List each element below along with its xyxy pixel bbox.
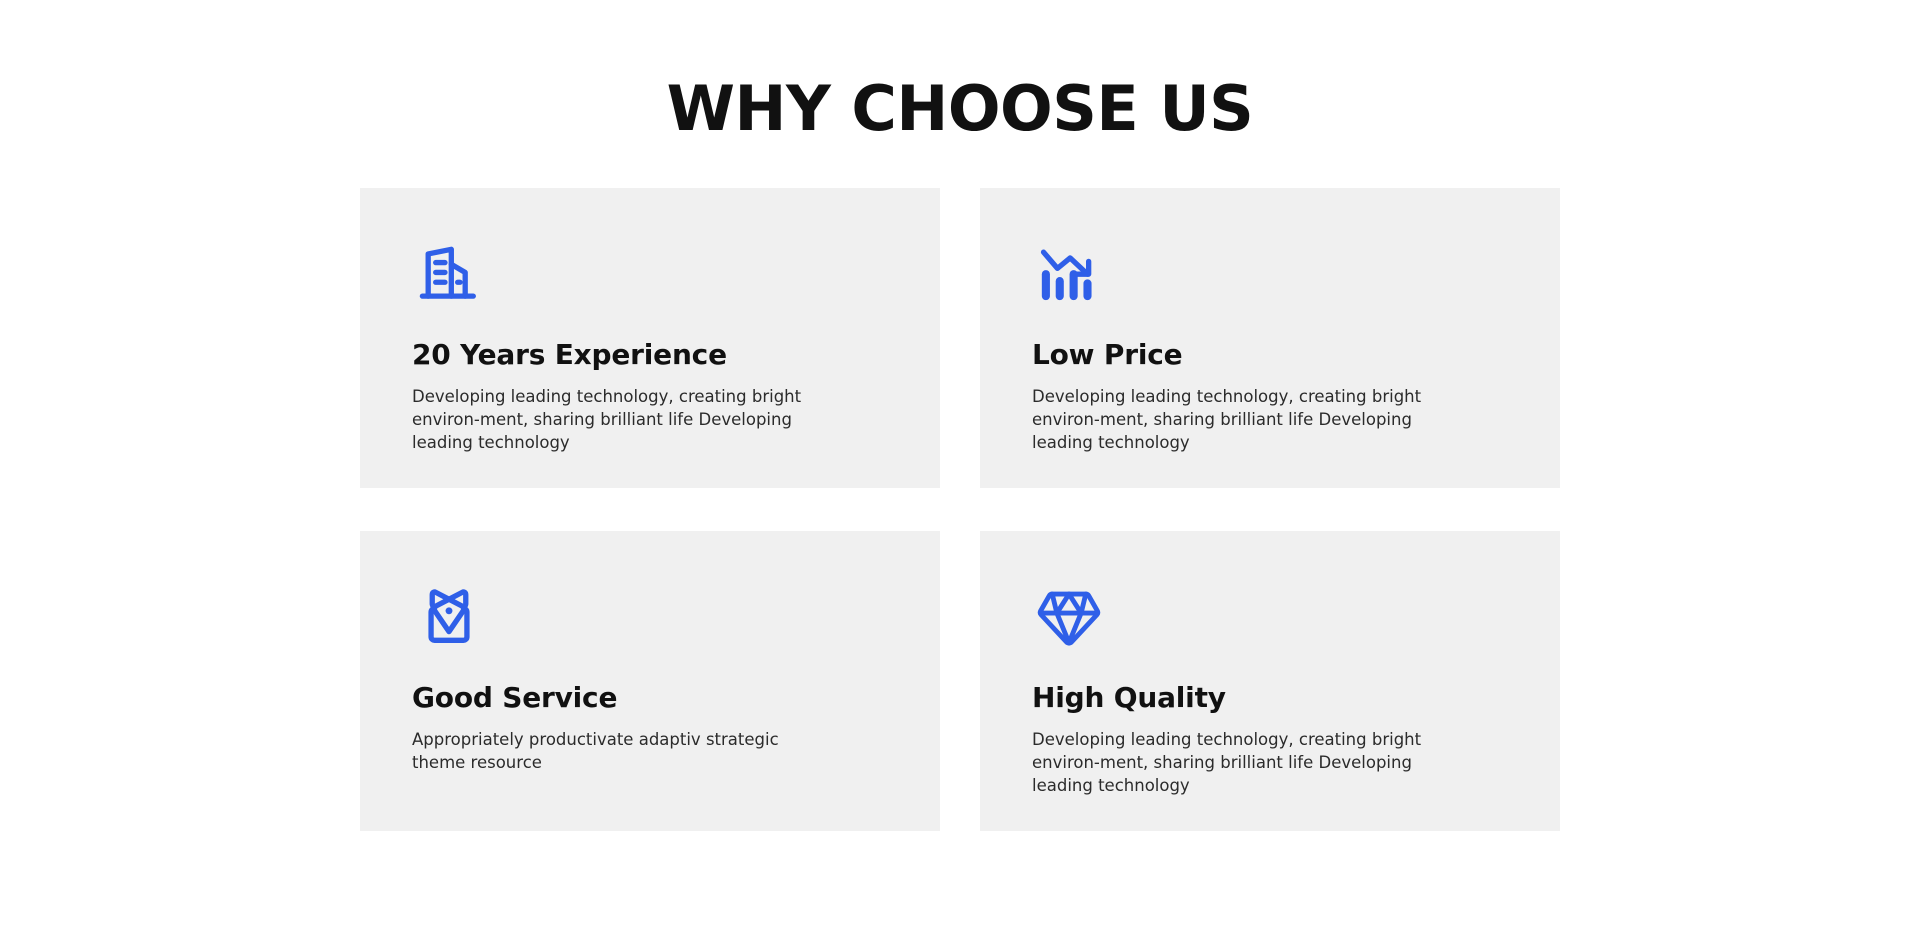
card-description: Developing leading technology, creating …: [1032, 385, 1447, 455]
why-choose-us-section: WHY CHOOSE US 20 Years Experience Develo…: [0, 0, 1920, 930]
card-title: High Quality: [1032, 681, 1508, 715]
card-title: Good Service: [412, 681, 888, 715]
feature-card-low-price[interactable]: Low Price Developing leading technology,…: [980, 188, 1560, 488]
card-description: Developing leading technology, creating …: [1032, 728, 1447, 798]
feature-card-good-service[interactable]: Good Service Appropriately productivate …: [360, 531, 940, 831]
diamond-gem-icon: [1032, 579, 1106, 653]
card-description: Developing leading technology, creating …: [412, 385, 827, 455]
page-title: WHY CHOOSE US: [0, 78, 1920, 140]
card-title: 20 Years Experience: [412, 338, 888, 372]
office-building-icon: [412, 236, 486, 310]
declining-bar-chart-icon: [1032, 236, 1106, 310]
feature-card-high-quality[interactable]: High Quality Developing leading technolo…: [980, 531, 1560, 831]
card-description: Appropriately productivate adaptiv strat…: [412, 728, 827, 775]
feature-card-experience[interactable]: 20 Years Experience Developing leading t…: [360, 188, 940, 488]
feature-card-grid: 20 Years Experience Developing leading t…: [360, 188, 1560, 831]
tuxedo-bowtie-icon: [412, 579, 486, 653]
card-title: Low Price: [1032, 338, 1508, 372]
